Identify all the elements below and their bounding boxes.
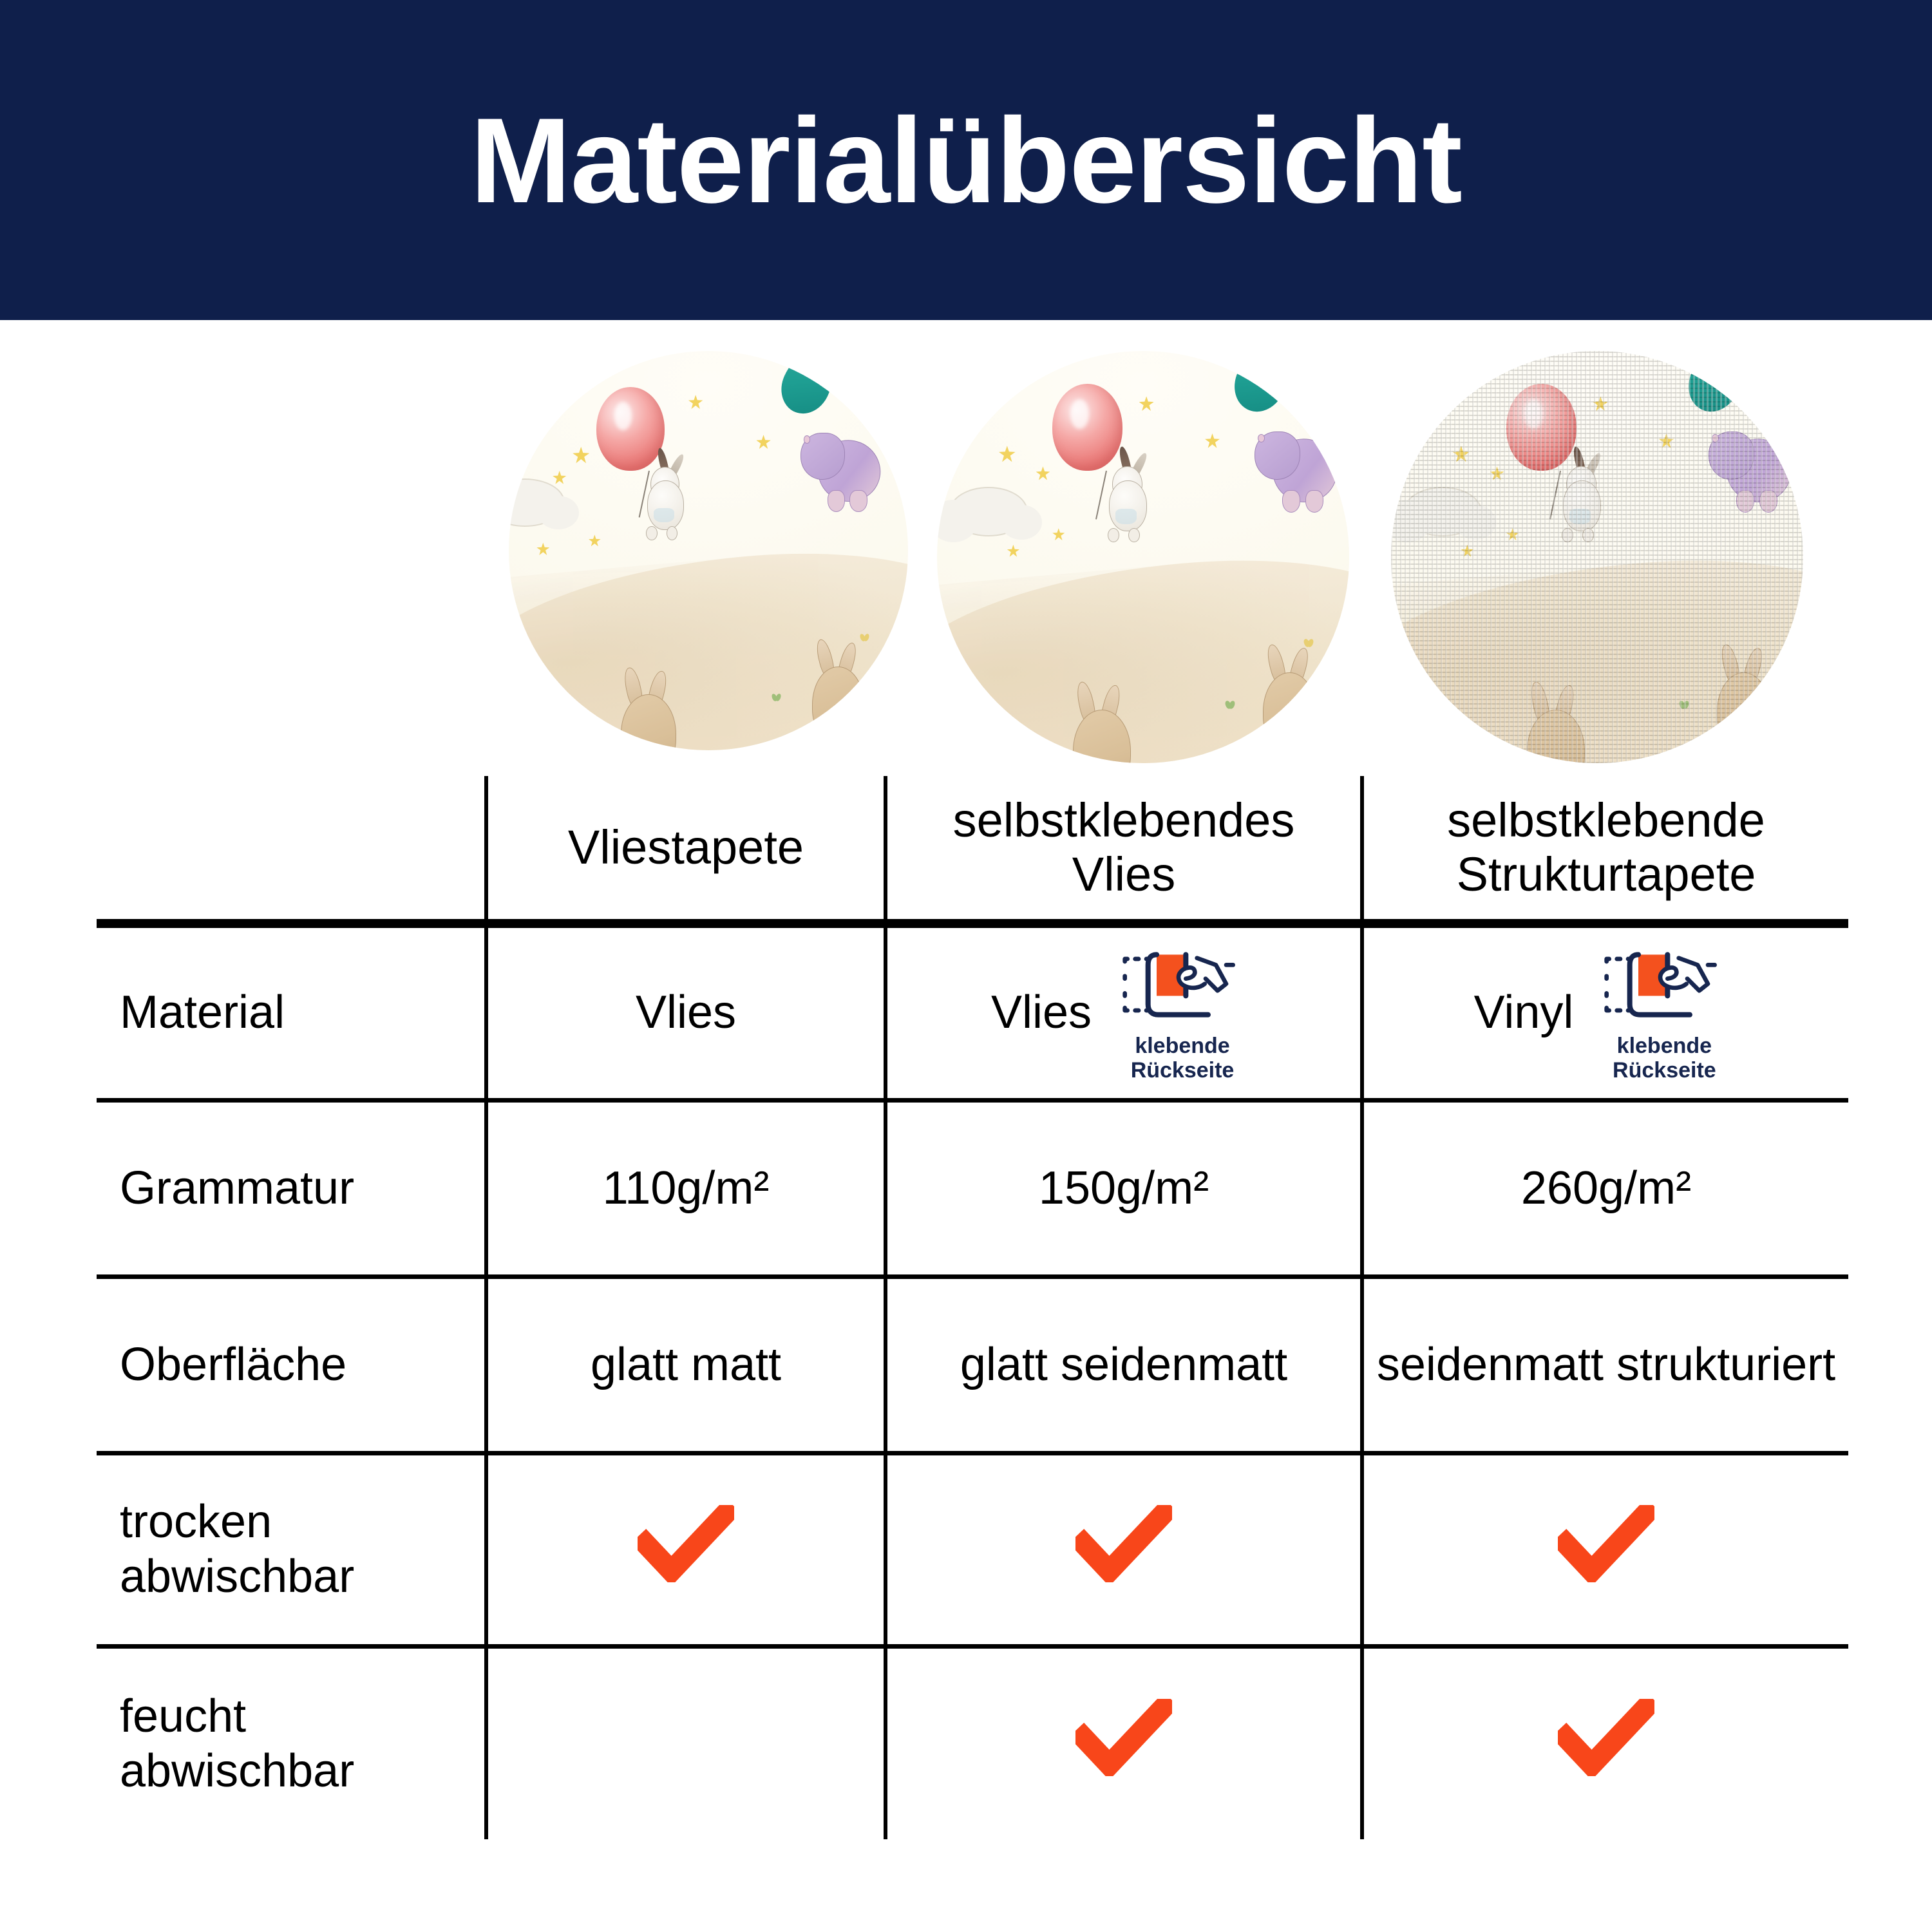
cell-oberflaeche-selbstklebende-strukturtapete: seidenmatt strukturiert <box>1362 1276 1848 1453</box>
check-icon <box>1075 1699 1172 1776</box>
row-label-grammatur: Grammatur <box>97 1100 486 1276</box>
row-label-material: Material <box>97 923 486 1100</box>
cell-feucht-selbstklebendes-vlies <box>885 1646 1362 1839</box>
star-icon <box>589 535 601 547</box>
table-header-row: Vliestapete selbstklebendes Vlies selbst… <box>97 776 1848 919</box>
star-icon <box>1453 446 1470 462</box>
flying-hippo-icon <box>1255 421 1337 507</box>
row-label-oberflaeche: Oberfläche <box>97 1276 486 1453</box>
header-selbstklebendes-vlies: selbstklebendes Vlies <box>885 776 1362 919</box>
cloud-icon <box>949 487 1028 536</box>
badge-line2: Rückseite <box>1613 1058 1716 1083</box>
butterfly-icon <box>772 694 781 703</box>
adhesive-backing-icon <box>1600 943 1728 1031</box>
star-icon <box>573 447 589 464</box>
cell-material-vliestapete: Vlies <box>486 923 885 1100</box>
star-icon <box>1052 528 1065 540</box>
teal-balloon-icon <box>1680 351 1753 420</box>
sample-vliestapete[interactable] <box>509 351 908 750</box>
page-header: Materialübersicht <box>0 0 1932 320</box>
ground-bunny-icon <box>1073 710 1131 763</box>
ground-bunny-icon <box>1527 710 1585 763</box>
star-icon <box>688 395 703 409</box>
cell-feucht-vliestapete <box>486 1646 885 1839</box>
check-icon <box>1558 1505 1654 1582</box>
table-row-material: Material Vlies Vlies <box>97 923 1848 1100</box>
flying-bunny-icon <box>641 451 697 538</box>
check-icon <box>1075 1505 1172 1582</box>
cell-trocken-selbstklebendes-vlies <box>885 1453 1362 1646</box>
flying-bunny-icon <box>1102 450 1160 541</box>
badge-text: klebende Rückseite <box>1613 1034 1716 1083</box>
adhesive-backing-icon <box>1118 943 1247 1031</box>
cloud-icon <box>1403 487 1482 536</box>
page-title: Materialübersicht <box>470 100 1462 221</box>
star-icon <box>1205 433 1220 448</box>
butterfly-icon <box>860 634 869 643</box>
cell-value: Vlies <box>991 985 1092 1040</box>
ground-bunny-icon <box>1717 672 1770 751</box>
flying-hippo-icon <box>1709 421 1791 507</box>
star-icon <box>536 543 549 556</box>
header-separator <box>97 919 1848 923</box>
header-vliestapete: Vliestapete <box>486 776 885 919</box>
star-icon <box>1007 545 1019 557</box>
cell-grammatur-vliestapete: 110g/m² <box>486 1100 885 1276</box>
cell-material-selbstklebendes-vlies: Vlies <box>885 923 1362 1100</box>
flying-bunny-icon <box>1556 450 1614 541</box>
table-row-feucht-abwischbar: feucht abwischbar <box>97 1646 1848 1839</box>
cell-value: Vlies <box>636 985 736 1040</box>
header-empty-cell <box>97 776 486 919</box>
star-icon <box>1659 433 1674 448</box>
table-row-trocken-abwischbar: trocken abwischbar <box>97 1453 1848 1646</box>
teal-balloon-icon <box>773 351 844 422</box>
butterfly-icon <box>1304 639 1313 648</box>
cell-material-selbstklebende-strukturtapete: Vinyl <box>1362 923 1848 1100</box>
cloud-icon <box>509 478 565 526</box>
flying-hippo-icon <box>800 423 880 507</box>
page-root: Materialübersicht <box>0 0 1932 1932</box>
star-icon <box>553 471 566 484</box>
adhesive-backing-badge: klebende Rückseite <box>1590 943 1738 1083</box>
ground-bunny-icon <box>621 694 677 750</box>
cell-oberflaeche-vliestapete: glatt matt <box>486 1276 885 1453</box>
ground-bunny-icon <box>812 667 864 743</box>
cell-oberflaeche-selbstklebendes-vlies: glatt seidenmatt <box>885 1276 1362 1453</box>
star-icon <box>999 446 1016 462</box>
cell-feucht-selbstklebende-strukturtapete <box>1362 1646 1848 1839</box>
cell-value: Vinyl <box>1474 985 1574 1040</box>
ground-bunny-icon <box>1263 672 1316 751</box>
star-icon <box>1036 466 1050 480</box>
star-icon <box>1506 528 1519 540</box>
table-row-grammatur: Grammatur 110g/m² 150g/m² 260g/m² <box>97 1100 1848 1276</box>
header-selbstklebende-strukturtapete: selbstklebende Strukturtapete <box>1362 776 1848 919</box>
cell-trocken-vliestapete <box>486 1453 885 1646</box>
row-label-feucht-abwischbar: feucht abwischbar <box>97 1646 486 1839</box>
check-icon <box>1558 1699 1654 1776</box>
cell-trocken-selbstklebende-strukturtapete <box>1362 1453 1848 1646</box>
star-icon <box>1461 545 1473 557</box>
cell-grammatur-selbstklebende-strukturtapete: 260g/m² <box>1362 1100 1848 1276</box>
row-label-trocken-abwischbar: trocken abwischbar <box>97 1453 486 1646</box>
sample-selbstklebende-strukturtapete[interactable] <box>1391 351 1803 763</box>
butterfly-icon <box>1680 701 1689 710</box>
badge-text: klebende Rückseite <box>1131 1034 1235 1083</box>
cell-grammatur-selbstklebendes-vlies: 150g/m² <box>885 1100 1362 1276</box>
star-icon <box>1490 466 1504 480</box>
material-sample-row <box>499 351 1851 776</box>
star-icon <box>756 435 770 449</box>
adhesive-backing-badge: klebende Rückseite <box>1108 943 1256 1083</box>
badge-line1: klebende <box>1617 1034 1712 1058</box>
butterfly-icon <box>1226 701 1235 710</box>
sample-selbstklebendes-vlies[interactable] <box>937 351 1349 763</box>
material-comparison-table: Vliestapete selbstklebendes Vlies selbst… <box>97 776 1848 1839</box>
star-icon <box>1593 396 1608 411</box>
badge-line1: klebende <box>1135 1034 1229 1058</box>
badge-line2: Rückseite <box>1131 1058 1235 1083</box>
check-icon <box>638 1505 734 1582</box>
teal-balloon-icon <box>1226 351 1299 420</box>
table-row-oberflaeche: Oberfläche glatt matt glatt seidenmatt s… <box>97 1276 1848 1453</box>
star-icon <box>1139 396 1154 411</box>
